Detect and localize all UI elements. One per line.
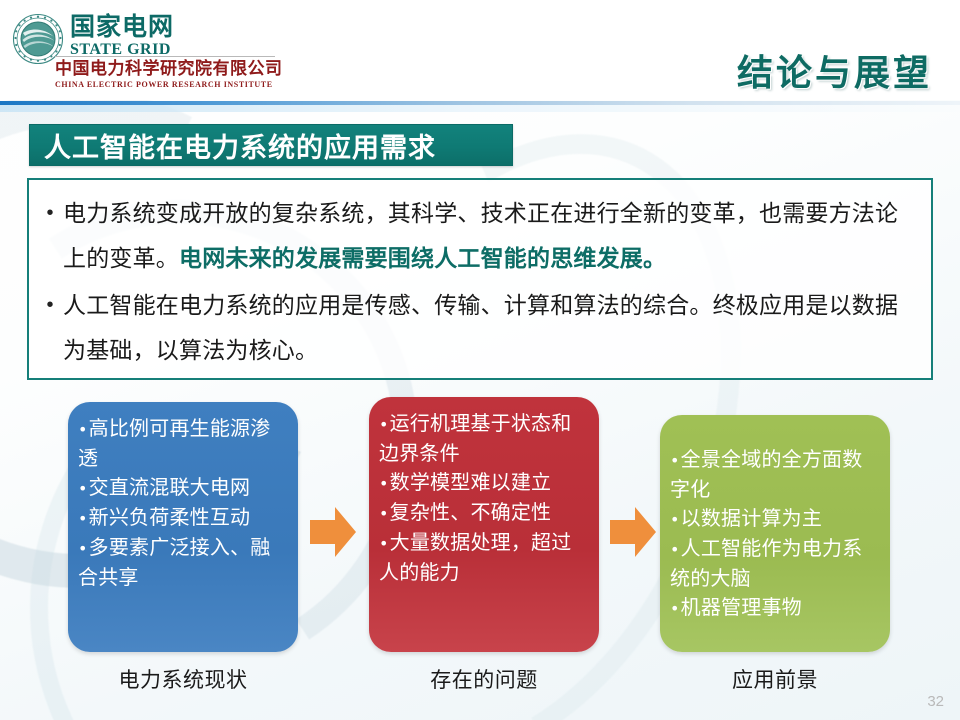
flow-stage-current-state: 高比例可再生能源渗透 交直流混联大电网 新兴负荷柔性互动 多要素广泛接入、融合共… [68,402,298,652]
list-item: 人工智能作为电力系统的大脑 [670,534,880,593]
institute-name-cn: 中国电力科学研究院有限公司 [55,60,285,79]
bullet-item: • 人工智能在电力系统的应用是传感、传输、计算和算法的综合。终极应用是以数据为基… [37,284,917,374]
list-item: 交直流混联大电网 [78,473,288,503]
list-item: 高比例可再生能源渗透 [78,414,288,473]
bullet-marker-icon: • [37,192,63,234]
flow-stage-item-list: 高比例可再生能源渗透 交直流混联大电网 新兴负荷柔性互动 多要素广泛接入、融合共… [78,414,288,592]
list-item: 新兴负荷柔性互动 [78,503,288,533]
brand-name-cn: 国家电网 [70,14,174,40]
flow-stage-item-list: 运行机理基于状态和边界条件 数学模型难以建立 复杂性、不确定性 大量数据处理，超… [379,409,589,587]
flow-stage-label-problems: 存在的问题 [369,664,599,694]
bullet-highlight-text: 电网未来的发展需要围绕人工智能的思维发展。 [179,246,666,272]
header-divider-glow [0,105,960,112]
list-item: 数学模型难以建立 [379,468,589,498]
body-text-box: • 电力系统变成开放的复杂系统，其科学、技术正在进行全新的变革，也需要方法论上的… [27,178,933,380]
list-item: 多要素广泛接入、融合共享 [78,533,288,592]
list-item: 运行机理基于状态和边界条件 [379,409,589,468]
list-item: 机器管理事物 [670,593,880,623]
bullet-item: • 电力系统变成开放的复杂系统，其科学、技术正在进行全新的变革，也需要方法论上的… [37,192,917,282]
list-item: 以数据计算为主 [670,504,880,534]
slide-title: 结论与展望 [737,44,932,96]
flow-diagram: 高比例可再生能源渗透 交直流混联大电网 新兴负荷柔性互动 多要素广泛接入、融合共… [0,392,960,682]
page-number: 32 [927,693,944,710]
bullet-marker-icon: • [37,284,63,326]
flow-stage-label-current-state: 电力系统现状 [68,664,298,694]
bullet-plain-text: 人工智能在电力系统的应用是传感、传输、计算和算法的综合。终极应用是以数据为基础，… [63,293,898,364]
flow-stage-prospects: 全景全域的全方面数字化 以数据计算为主 人工智能作为电力系统的大脑 机器管理事物 [660,415,890,652]
slide-header: 国家电网 STATE GRID 中国电力科学研究院有限公司 CHINA ELEC… [0,0,960,100]
flow-stage-label-prospects: 应用前景 [660,664,890,694]
flow-arrow-right-icon [308,504,358,560]
slide-canvas: 国家电网 STATE GRID 中国电力科学研究院有限公司 CHINA ELEC… [0,0,960,720]
section-title-bar: 人工智能在电力系统的应用需求 [29,124,513,166]
bullet-text: 电力系统变成开放的复杂系统，其科学、技术正在进行全新的变革，也需要方法论上的变革… [63,192,917,282]
institute-name-en: CHINA ELECTRIC POWER RESEARCH INSTITUTE [55,80,285,89]
bullet-text: 人工智能在电力系统的应用是传感、传输、计算和算法的综合。终极应用是以数据为基础，… [63,284,917,374]
list-item: 大量数据处理，超过人的能力 [379,528,589,587]
section-title-text: 人工智能在电力系统的应用需求 [44,126,436,165]
institute-name-block: 中国电力科学研究院有限公司 CHINA ELECTRIC POWER RESEA… [55,56,285,89]
list-item: 全景全域的全方面数字化 [670,445,880,504]
institute-divider [55,56,275,57]
list-item: 复杂性、不确定性 [379,498,589,528]
flow-stage-problems: 运行机理基于状态和边界条件 数学模型难以建立 复杂性、不确定性 大量数据处理，超… [369,397,599,652]
flow-stage-item-list: 全景全域的全方面数字化 以数据计算为主 人工智能作为电力系统的大脑 机器管理事物 [670,445,880,623]
flow-arrow-right-icon [608,504,658,560]
